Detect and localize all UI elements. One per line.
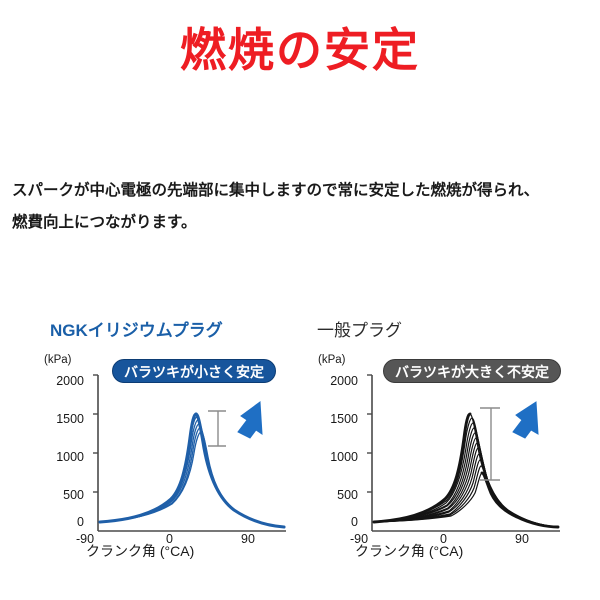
pressure-envelope-left [100, 414, 284, 527]
spread-bracket-left [208, 411, 226, 446]
callout-arrow-left [238, 402, 262, 438]
plot-svg-right [312, 358, 570, 553]
chart-title-ngk-iridium: NGKイリジウムプラグ [50, 316, 223, 341]
plot-area-ngk-iridium [38, 358, 296, 553]
plot-svg-left [38, 358, 296, 553]
body-text-line-1: スパークが中心電極の先端部に集中しますので常に安定した燃焼が得られ、 [12, 178, 592, 200]
plot-area-conventional [312, 358, 570, 553]
page-title: 燃焼の安定 [0, 25, 600, 76]
chart-panel-ngk-iridium: NGKイリジウムプラグ (kPa) バラツキが小さく安定 2000 1500 1… [26, 310, 306, 575]
body-text-line-2: 燃費向上につながります。 [12, 210, 592, 232]
chart-panel-conventional: 一般プラグ (kPa) バラツキが大きく不安定 2000 1500 1000 5… [300, 310, 580, 575]
callout-arrow-right [513, 402, 538, 438]
chart-title-conventional: 一般プラグ [317, 316, 402, 341]
